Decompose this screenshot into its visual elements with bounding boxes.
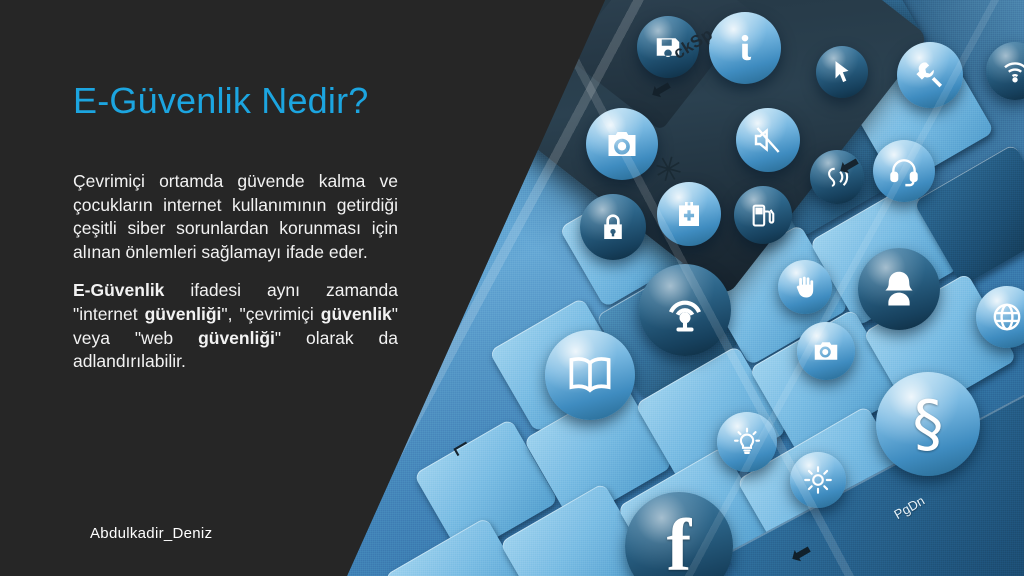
sun-icon bbox=[790, 452, 846, 508]
lock-icon bbox=[580, 194, 646, 260]
camera-icon bbox=[797, 322, 855, 380]
hand-icon bbox=[778, 260, 832, 314]
bell-person-icon bbox=[858, 248, 940, 330]
book-icon bbox=[545, 330, 635, 420]
lightbulb-icon bbox=[717, 412, 777, 472]
paragraph-definition: Çevrimiçi ortamda güvende kalma ve çocuk… bbox=[73, 170, 398, 264]
fuel-pump-icon bbox=[734, 186, 792, 244]
broadcast-tower-icon bbox=[639, 264, 731, 356]
cursor-arrow-icon bbox=[816, 46, 868, 98]
camera-icon bbox=[586, 108, 658, 180]
section-sign-icon: § bbox=[876, 372, 980, 476]
paragraph-alternate-names: E-Güvenlik ifadesi aynı zamanda "interne… bbox=[73, 279, 398, 373]
author-footer: Abdulkadir_Deniz bbox=[90, 525, 212, 542]
slide: PgDn bbox=[0, 0, 1024, 576]
info-icon bbox=[709, 12, 781, 84]
wrench-tools-icon bbox=[897, 42, 963, 108]
headset-icon bbox=[873, 140, 935, 202]
mute-icon bbox=[736, 108, 800, 172]
page-title: E-Güvenlik Nedir? bbox=[73, 80, 369, 122]
body-content: Çevrimiçi ortamda güvende kalma ve çocuk… bbox=[73, 170, 398, 374]
